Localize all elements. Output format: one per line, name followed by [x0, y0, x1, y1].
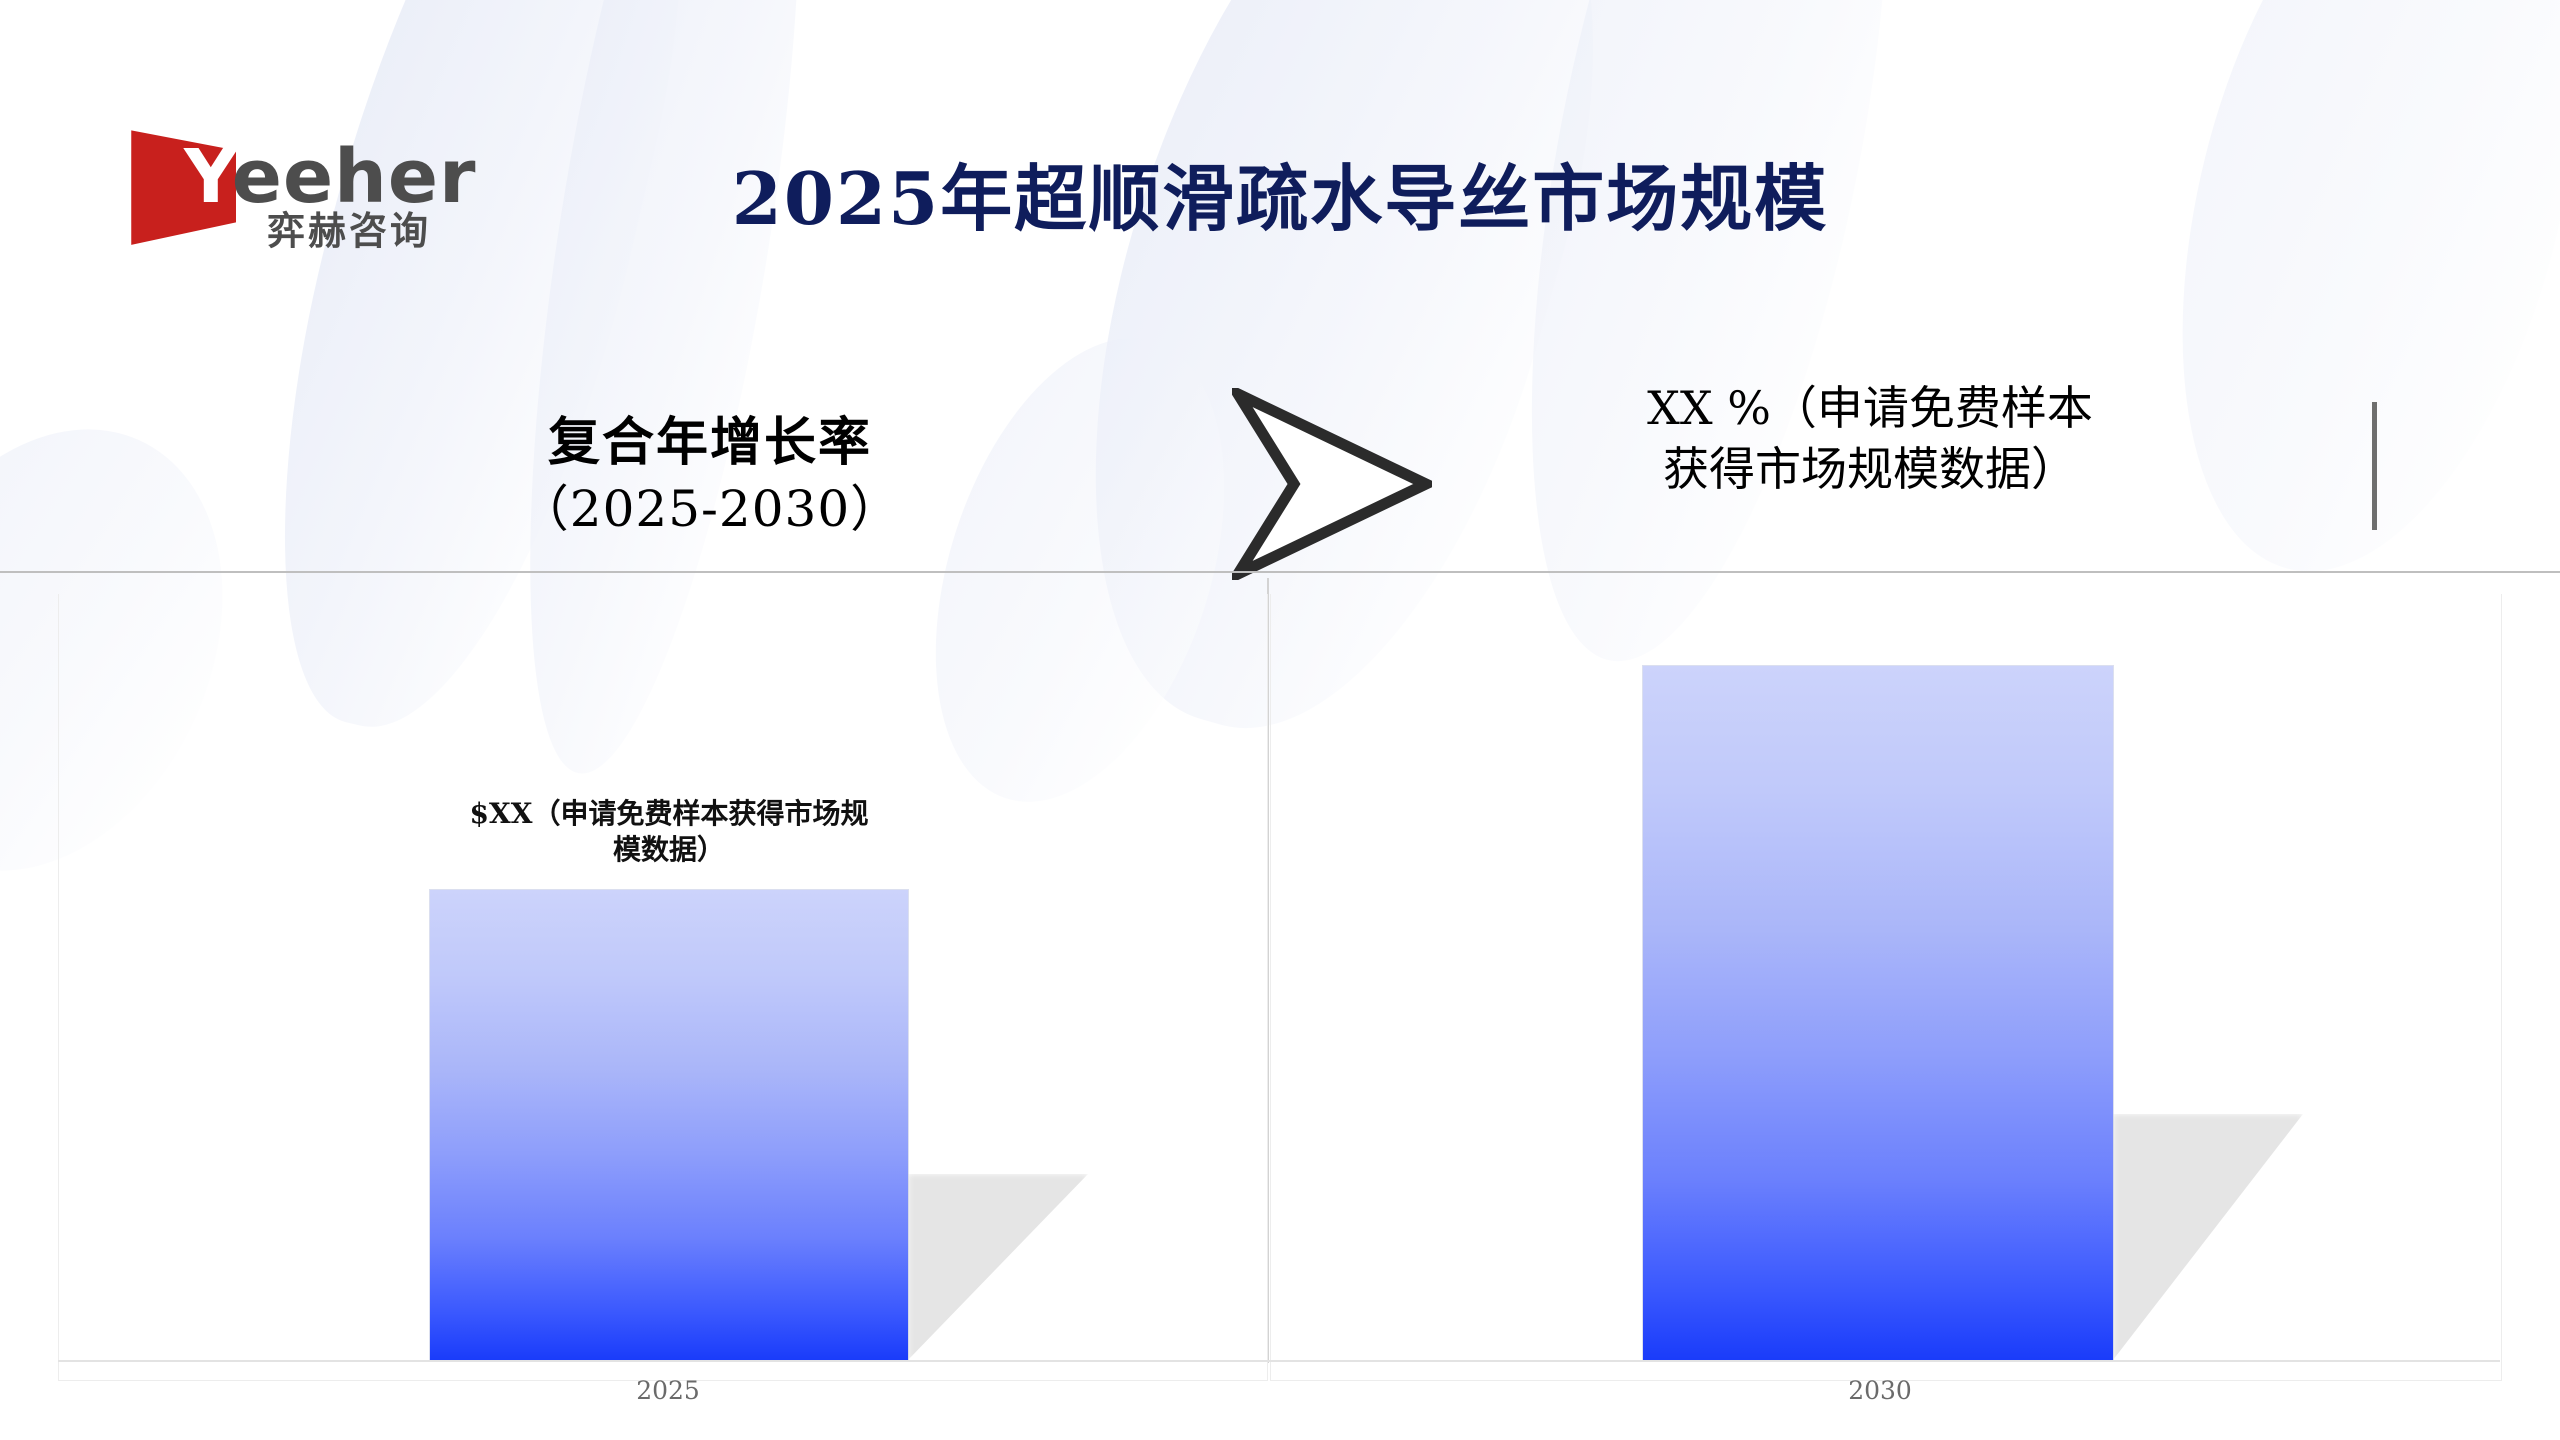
- cagr-period: （2025-2030）: [400, 477, 1020, 541]
- logo-subtitle: 弈赫咨询: [267, 212, 431, 250]
- logo-letters-rest: eeher: [232, 134, 477, 220]
- page-title: 2025年超顺滑疏水导丝市场规模: [560, 140, 2000, 245]
- callout-line-2: 获得市场规模数据）: [1610, 439, 2130, 500]
- cagr-label: 复合年增长率: [400, 410, 1020, 477]
- header-divider: [0, 571, 2560, 573]
- x-tick-2030: 2030: [1690, 1376, 2070, 1405]
- bar-value-line-2: 模数据）: [444, 832, 894, 868]
- bar-2030[interactable]: [1643, 666, 2113, 1360]
- brand-logo: Yeeher 弈赫咨询: [128, 122, 458, 262]
- chart-baseline: [58, 1360, 2500, 1362]
- logo-letter-y: Y: [184, 134, 232, 220]
- bar-chart: $XX（申请免费样本获得市场规 模数据） 2025 2030: [0, 574, 2560, 1440]
- bar-value-line-1: $XX（申请免费样本获得市场规: [444, 796, 894, 832]
- market-size-callout: XX %（申请免费样本 获得市场规模数据）: [1610, 378, 2130, 499]
- callout-line-1: XX %（申请免费样本: [1610, 378, 2130, 439]
- bar-2025[interactable]: [430, 890, 908, 1360]
- background-ribbon: [2113, 0, 2560, 612]
- x-tick-2025: 2025: [478, 1376, 858, 1405]
- slide-canvas: Yeeher 弈赫咨询 2025年超顺滑疏水导丝市场规模 复合年增长率 （202…: [0, 0, 2560, 1440]
- logo-wordmark: Yeeher: [184, 140, 477, 214]
- arrow-right-icon: [1232, 388, 1432, 580]
- callout-rule: [2372, 402, 2377, 530]
- bar-value-label-2025: $XX（申请免费样本获得市场规 模数据）: [444, 796, 894, 869]
- cagr-block: 复合年增长率 （2025-2030）: [400, 410, 1020, 541]
